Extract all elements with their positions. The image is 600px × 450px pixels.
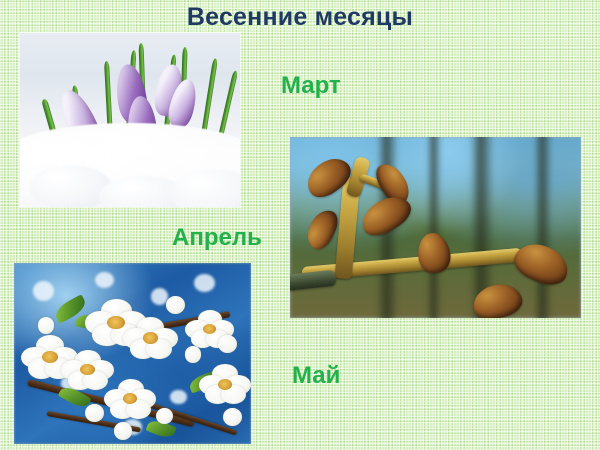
- background-trunk: [427, 137, 442, 318]
- flower-center: [143, 332, 158, 344]
- cherry-bud: [223, 408, 242, 426]
- tree-buds-scene: [290, 137, 581, 318]
- cherry-flower: [199, 364, 251, 404]
- photo-cherry-blossom: [14, 263, 251, 444]
- cherry-bud: [166, 296, 185, 314]
- month-label-april: Апрель: [172, 224, 262, 252]
- flower-center: [42, 351, 58, 363]
- cherry-flower: [123, 317, 178, 359]
- slide-canvas: Весенние месяцы: [0, 0, 600, 450]
- cherry-bud: [38, 317, 55, 333]
- cherry-flower: [61, 350, 113, 390]
- cherry-bud: [156, 408, 173, 424]
- month-label-may: Май: [292, 362, 340, 390]
- crocus-scene: [20, 33, 240, 207]
- distant-blossom: [170, 390, 187, 404]
- flower-center: [218, 379, 233, 390]
- background-trunk: [534, 137, 551, 318]
- photo-crocus-in-snow: [20, 33, 240, 207]
- photo-tree-buds: [290, 137, 581, 318]
- flower-center: [107, 316, 124, 329]
- cherry-blossom-scene: [14, 263, 251, 444]
- cherry-bud: [185, 346, 202, 362]
- page-title: Весенние месяцы: [0, 2, 600, 32]
- distant-blossom: [95, 272, 114, 288]
- month-label-march: Март: [281, 72, 341, 100]
- cherry-flower: [104, 379, 156, 419]
